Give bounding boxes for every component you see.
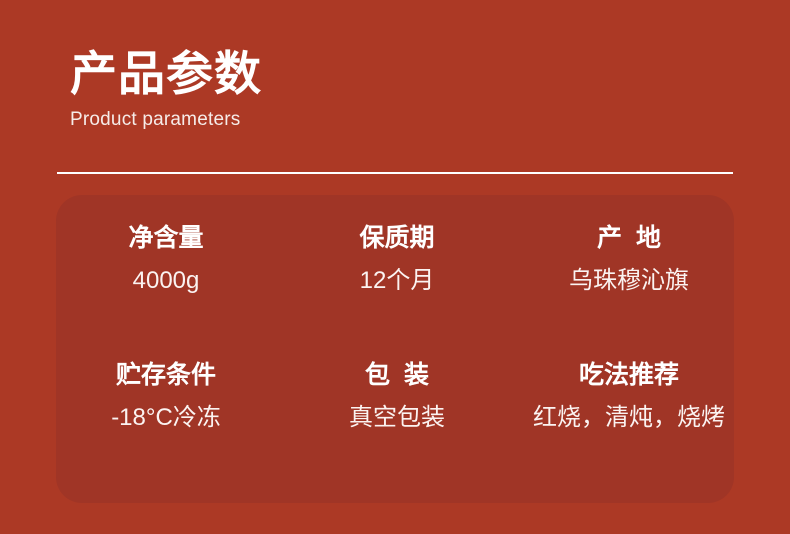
spec-label: 产 地 xyxy=(597,221,661,255)
spec-value: 乌珠穆沁旗 xyxy=(569,255,689,298)
spec-value: -18°C冷冻 xyxy=(111,392,221,435)
spec-grid: 净含量 4000g 保质期 12个月 产 地 乌珠穆沁旗 贮存条件 -18°C冷… xyxy=(56,195,734,503)
spec-item-net-weight: 净含量 4000g xyxy=(56,221,282,350)
spec-value: 真空包装 xyxy=(349,392,445,435)
spec-label: 保质期 xyxy=(359,221,434,255)
page-title: 产品参数 xyxy=(70,45,670,103)
spec-item-serving-suggestion: 吃法推荐 红烧，清炖，烧烤 xyxy=(508,350,734,479)
spec-label: 贮存条件 xyxy=(116,358,216,392)
spec-item-shelf-life: 保质期 12个月 xyxy=(282,221,508,350)
spec-item-storage: 贮存条件 -18°C冷冻 xyxy=(56,350,282,479)
spec-value: 4000g xyxy=(133,255,200,298)
spec-value: 12个月 xyxy=(360,255,435,298)
spec-value: 红烧，清炖，烧烤 xyxy=(533,392,725,435)
page-subtitle: Product parameters xyxy=(70,103,670,132)
header-divider xyxy=(57,172,733,174)
spec-item-origin: 产 地 乌珠穆沁旗 xyxy=(508,221,734,350)
spec-label: 净含量 xyxy=(128,221,203,255)
spec-item-packaging: 包 装 真空包装 xyxy=(282,350,508,479)
spec-label: 吃法推荐 xyxy=(579,358,679,392)
product-parameters-page: 产品参数 Product parameters 净含量 4000g 保质期 12… xyxy=(0,0,790,534)
header: 产品参数 Product parameters xyxy=(70,45,670,132)
spec-card: 净含量 4000g 保质期 12个月 产 地 乌珠穆沁旗 贮存条件 -18°C冷… xyxy=(56,195,734,503)
spec-label: 包 装 xyxy=(365,358,429,392)
